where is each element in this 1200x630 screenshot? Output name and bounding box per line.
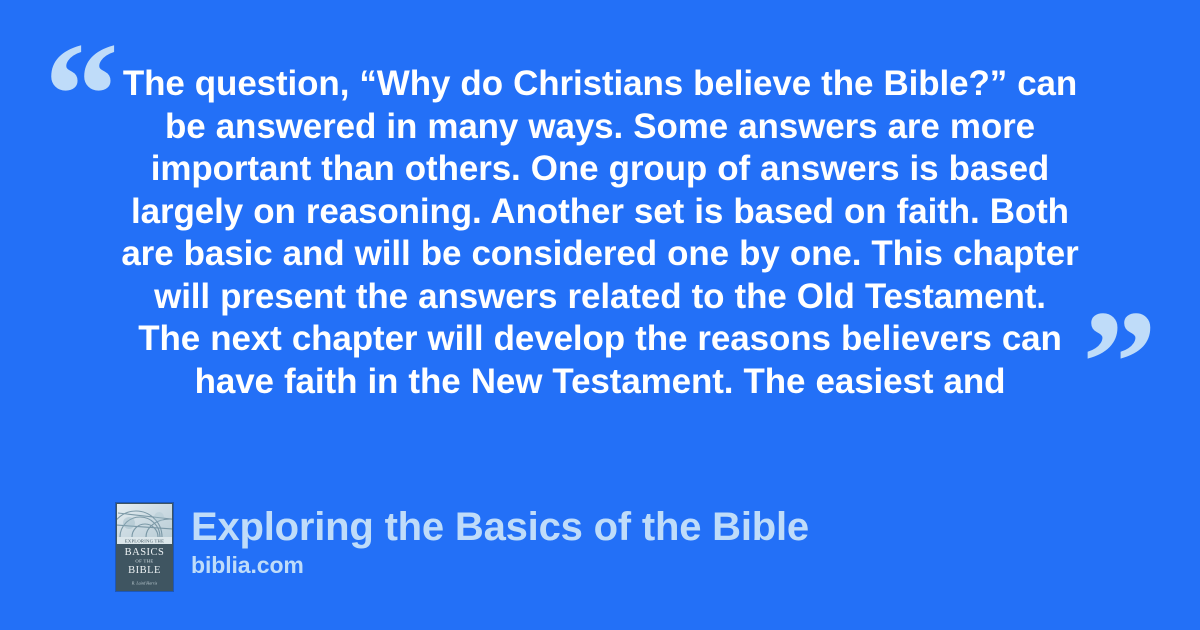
svg-text:R. Laird Harris: R. Laird Harris [131,581,158,586]
svg-text:BASICS: BASICS [125,547,165,558]
site-title: Exploring the Basics of the Bible [191,504,809,551]
footer-text-block: Exploring the Basics of the Bible biblia… [191,503,809,579]
close-quote-icon: ” [1082,288,1155,438]
book-cover-thumbnail: EXPLORING THE BASICS OF THE BIBLE R. Lai… [116,503,173,591]
quote-text: The question, “Why do Christians believe… [119,62,1080,402]
svg-text:OF THE: OF THE [135,559,153,564]
svg-text:BIBLE: BIBLE [128,565,161,576]
svg-text:EXPLORING THE: EXPLORING THE [125,539,164,544]
site-url: biblia.com [191,552,809,579]
quote-card: “ ” The question, “Why do Christians bel… [0,0,1200,630]
footer-branding: EXPLORING THE BASICS OF THE BIBLE R. Lai… [116,503,809,591]
open-quote-icon: “ [44,20,117,170]
